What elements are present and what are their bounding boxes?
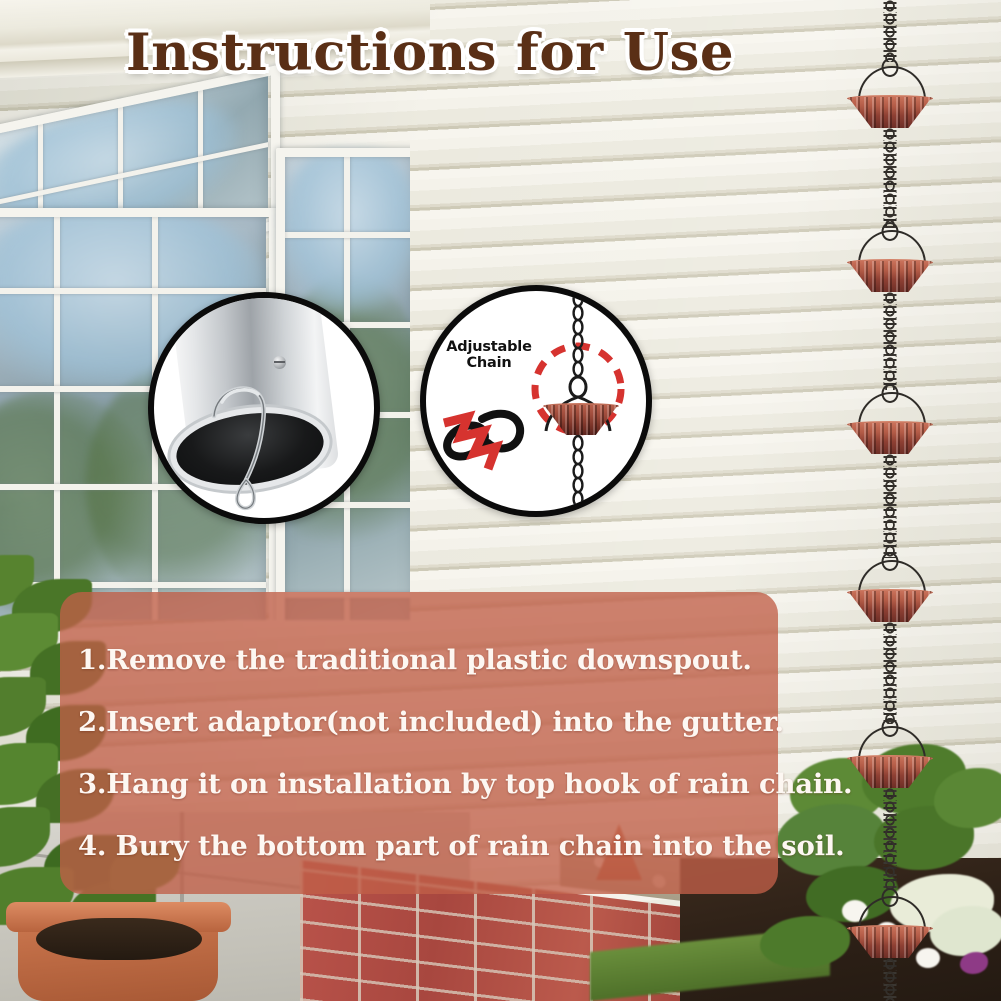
instruction-step: 2.Insert adaptor(not included) into the …: [78, 706, 778, 738]
cup-bowl: [544, 405, 618, 435]
instructions-panel: 1.Remove the traditional plastic downspo…: [60, 592, 778, 894]
s-hook-icon: [154, 298, 374, 518]
chain-segment: [884, 0, 897, 62]
instruction-step: 3.Hang it on installation by top hook of…: [78, 768, 778, 800]
cup-bowl: [848, 97, 932, 128]
cup-bowl: [848, 757, 932, 788]
chain-segment-icon: [574, 436, 583, 506]
chain-segment: [884, 622, 897, 724]
downspout-hook-inset: [148, 292, 380, 524]
rain-chain-cup: [848, 252, 932, 292]
chain-segment: [884, 958, 897, 1001]
rain-chain-cup: [848, 582, 932, 622]
rain-chain-cup: [848, 88, 932, 128]
instruction-steps-list: 1.Remove the traditional plastic downspo…: [78, 644, 778, 892]
cup-bowl: [848, 261, 932, 292]
shrub-leaf: [0, 807, 50, 867]
adjustable-chain-inset: Adjustable Chain: [420, 285, 652, 517]
chain-segment-icon: [574, 292, 583, 376]
chain-segment: [884, 292, 897, 390]
cup-bowl: [848, 927, 932, 958]
chain-segment: [884, 788, 897, 890]
instruction-graphic: Adjustable Chain: [0, 0, 1001, 1001]
chain-segment: [884, 128, 897, 228]
rain-chain-cup-illustration: [544, 399, 618, 435]
rain-chain-cup: [848, 748, 932, 788]
instruction-step: 4. Bury the bottom part of rain chain in…: [78, 830, 778, 862]
page-title: Instructions for Use: [0, 23, 877, 83]
pot-soil: [36, 918, 202, 960]
rain-chain-cup: [848, 918, 932, 958]
cup-bowl: [848, 423, 932, 454]
chain-connector-loop: [570, 377, 586, 397]
cup-bowl: [848, 591, 932, 622]
instruction-step: 1.Remove the traditional plastic downspo…: [78, 644, 778, 676]
chain-segment: [884, 454, 897, 558]
rain-chain-cup: [848, 414, 932, 454]
